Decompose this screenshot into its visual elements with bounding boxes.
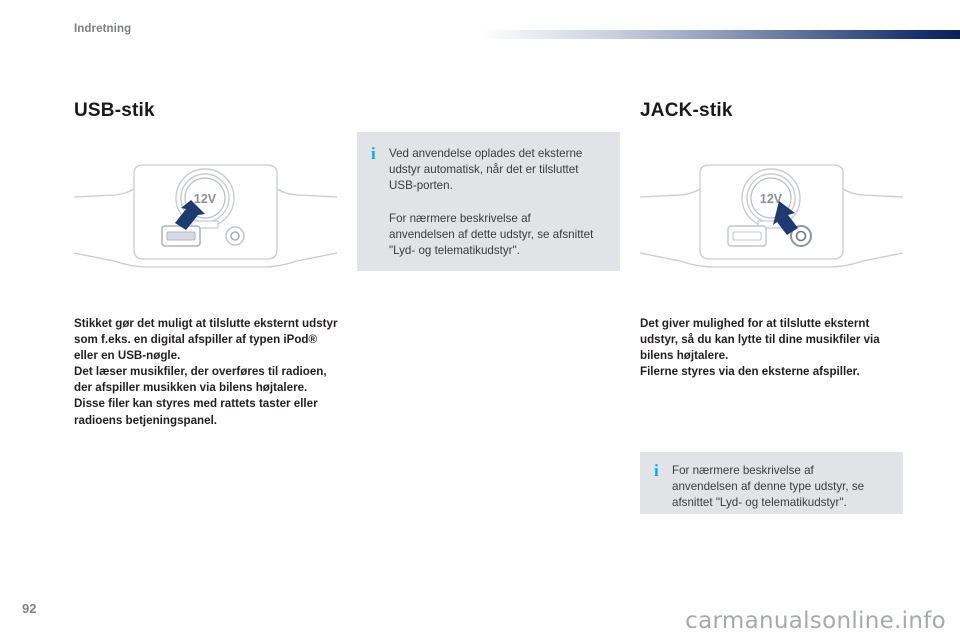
info-icon: i xyxy=(654,463,672,503)
usb-info-text: Ved anvendelse oplades det eksterne udst… xyxy=(389,146,604,255)
page-header: Indretning xyxy=(0,0,960,46)
info-icon: i xyxy=(371,146,389,255)
breadcrumb: Indretning xyxy=(74,23,131,35)
jack-socket-illustration: 12V xyxy=(640,135,903,312)
header-gradient-rule xyxy=(480,30,960,39)
usb-socket-illustration: 12V xyxy=(74,135,337,312)
jack-info-text: For nærmere beskrivelse af anvendelsen a… xyxy=(672,463,887,503)
usb-section-title: USB-stik xyxy=(74,100,155,122)
usb-info-callout: i Ved anvendelse oplades det eksterne ud… xyxy=(357,132,620,271)
socket-voltage-label: 12V xyxy=(194,192,217,206)
page-number: 92 xyxy=(22,601,36,616)
jack-body-text: Det giver mulighed for at tilslutte ekst… xyxy=(640,316,908,380)
usb-body-text: Stikket gør det muligt at tilslutte ekst… xyxy=(74,316,342,429)
site-watermark: carmanualsonline.info xyxy=(685,608,946,634)
jack-section-title: JACK-stik xyxy=(640,100,733,122)
jack-info-callout: i For nærmere beskrivelse af anvendelsen… xyxy=(640,452,903,514)
